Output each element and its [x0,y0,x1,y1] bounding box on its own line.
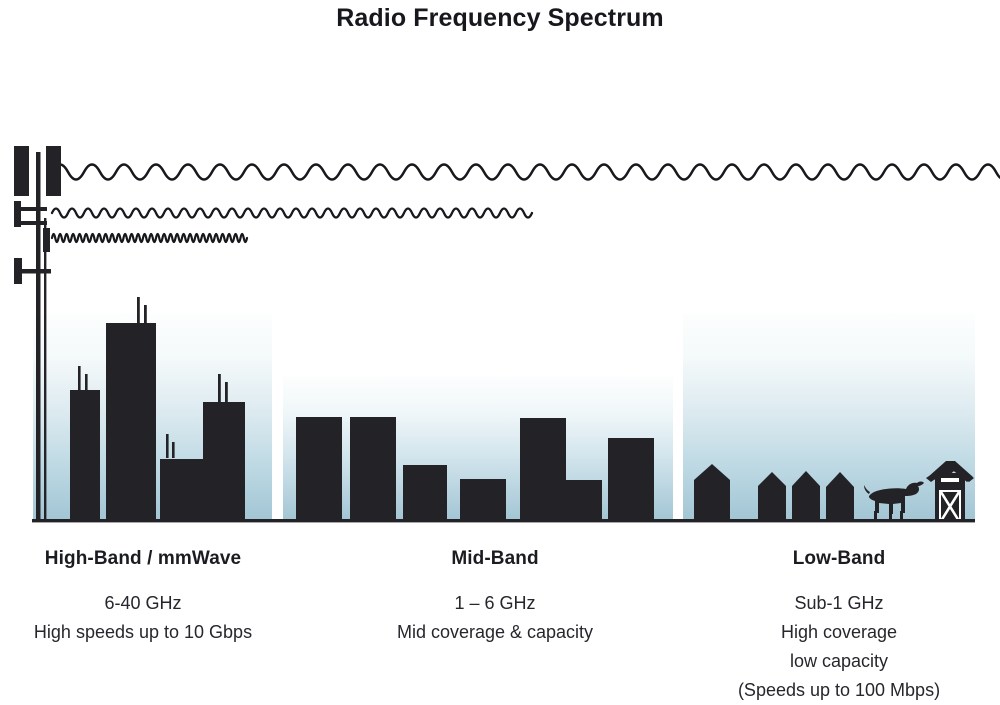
building-spire [144,305,147,325]
building-spire [137,297,140,325]
antenna-panel-top-right [46,146,61,196]
band-title-high-band: High-Band / mmWave [0,548,286,570]
long-wave-icon [52,165,1000,180]
mid-rise-building [350,417,396,521]
band-frequency-low-band: Sub-1 GHz [696,589,982,618]
tower-mast-right [44,218,46,521]
tower-crossbar-lower [21,221,47,225]
band-label-mid-band: Mid-Band 1 – 6 GHz Mid coverage & capaci… [352,548,638,647]
building-spire [172,442,175,458]
antenna-panel-low [14,258,22,284]
mid-rise-building [296,417,342,521]
band-label-high-band: High-Band / mmWave 6-40 GHz High speeds … [0,548,286,647]
antenna-panel-mid-left [14,201,21,227]
barn-window [941,478,959,482]
antenna-panel-mid-right [43,228,50,252]
antenna-panel-top-left [14,146,29,196]
ground-line [32,519,975,522]
mid-rise-building [520,418,566,521]
skyscraper [160,459,207,521]
band-capacity-low-band: low capacity [696,647,982,676]
band-frequency-high-band: 6-40 GHz [0,589,286,618]
medium-wave-icon [52,209,532,218]
band-title-mid-band: Mid-Band [352,548,638,570]
band-title-low-band: Low-Band [696,548,982,570]
tower-crossbar-upper [21,207,47,211]
mid-rise-building [566,480,602,521]
building-spire [166,434,169,458]
band-frequency-mid-band: 1 – 6 GHz [352,589,638,618]
band-speed-low-band: (Speeds up to 100 Mbps) [696,676,982,705]
skyscraper [70,390,100,521]
skyscraper [203,402,245,521]
building-spire [218,374,221,404]
band-label-low-band: Low-Band Sub-1 GHz High coverage low cap… [696,548,982,705]
skyscraper [106,323,156,521]
tower-crossbar-bottom [22,269,51,274]
mid-rise-building [460,479,506,521]
band-detail-mid-band: Mid coverage & capacity [352,618,638,647]
mid-rise-building [608,438,654,521]
band-coverage-low-band: High coverage [696,618,982,647]
building-spire [225,382,228,404]
infographic-canvas: Radio Frequency Spectrum [0,0,1000,700]
mid-rise-building [403,465,447,521]
radio-waves [52,165,1000,243]
short-wave-icon [52,234,247,242]
band-detail-high-band: High speeds up to 10 Gbps [0,618,286,647]
